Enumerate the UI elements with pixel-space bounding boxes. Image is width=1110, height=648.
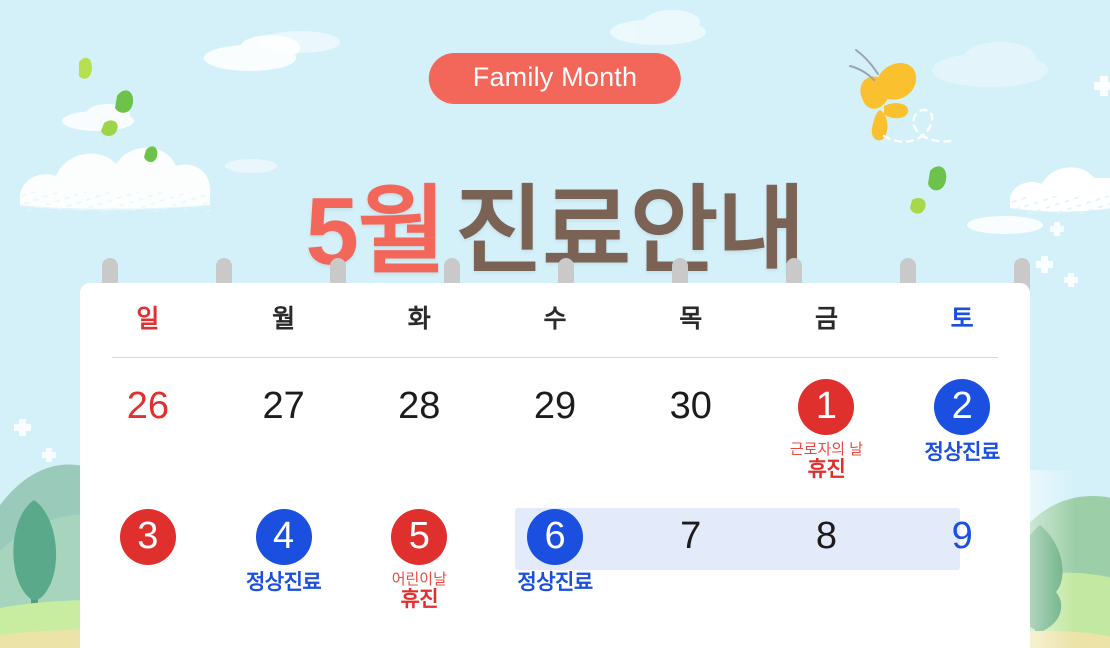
day-number: 8 bbox=[798, 509, 854, 565]
calendar-week-row: 34정상진료5어린이날휴진6정상진료789 bbox=[80, 509, 1030, 612]
day-status-badge: 정상진료 bbox=[216, 571, 352, 595]
weekday-label-6: 토 bbox=[894, 307, 1030, 332]
day-number: 2 bbox=[934, 379, 990, 435]
calendar-day-cell[interactable]: 1근로자의 날휴진 bbox=[759, 379, 895, 482]
calendar-day-cell[interactable]: 7 bbox=[623, 509, 759, 612]
cloud-icon bbox=[260, 31, 340, 53]
day-status-badge: 휴진 bbox=[351, 588, 487, 612]
day-status-badge: 휴진 bbox=[759, 458, 895, 482]
day-number: 3 bbox=[120, 509, 176, 565]
day-number: 5 bbox=[391, 509, 447, 565]
calendar-day-cell[interactable]: 6정상진료 bbox=[487, 509, 623, 612]
calendar-day-cell[interactable]: 9 bbox=[894, 509, 1030, 612]
day-number: 27 bbox=[256, 379, 312, 435]
cloud-icon bbox=[932, 42, 1048, 87]
weekday-label-4: 목 bbox=[623, 307, 759, 332]
day-number: 29 bbox=[527, 379, 583, 435]
holiday-name: 어린이날 bbox=[351, 571, 487, 588]
day-number: 4 bbox=[256, 509, 312, 565]
butterfly-icon bbox=[850, 50, 956, 142]
day-note: 정상진료 bbox=[487, 571, 623, 595]
calendar-week-row: 26272829301근로자의 날휴진2정상진료 bbox=[80, 379, 1030, 482]
family-month-badge: Family Month bbox=[429, 53, 681, 104]
calendar-day-cell[interactable]: 2정상진료 bbox=[894, 379, 1030, 482]
weekday-label-1: 월 bbox=[216, 307, 352, 332]
day-note: 정상진료 bbox=[216, 571, 352, 595]
calendar-day-cell[interactable]: 4정상진료 bbox=[216, 509, 352, 612]
weekday-label-2: 화 bbox=[351, 307, 487, 332]
day-number: 6 bbox=[527, 509, 583, 565]
day-number: 1 bbox=[798, 379, 854, 435]
calendar-day-cell[interactable]: 26 bbox=[80, 379, 216, 482]
calendar-day-cell[interactable]: 29 bbox=[487, 379, 623, 482]
day-status-badge: 정상진료 bbox=[487, 571, 623, 595]
day-number: 30 bbox=[663, 379, 719, 435]
weekday-label-3: 수 bbox=[487, 307, 623, 332]
header-divider bbox=[112, 357, 998, 358]
cloud-icon bbox=[610, 10, 706, 45]
day-note: 어린이날휴진 bbox=[351, 571, 487, 612]
calendar-day-cell[interactable]: 3 bbox=[80, 509, 216, 612]
calendar-day-cell[interactable]: 5어린이날휴진 bbox=[351, 509, 487, 612]
cloud-icon bbox=[225, 159, 277, 173]
calendar-card: 일월화수목금토 26272829301근로자의 날휴진2정상진료 34정상진료5… bbox=[80, 283, 1030, 648]
calendar-day-cell[interactable]: 8 bbox=[759, 509, 895, 612]
weekday-label-0: 일 bbox=[80, 307, 216, 332]
day-note: 근로자의 날휴진 bbox=[759, 441, 895, 482]
day-number: 9 bbox=[934, 509, 990, 565]
holiday-name: 근로자의 날 bbox=[759, 441, 895, 458]
calendar-day-cell[interactable]: 28 bbox=[351, 379, 487, 482]
calendar-day-cell[interactable]: 30 bbox=[623, 379, 759, 482]
day-status-badge: 정상진료 bbox=[894, 441, 1030, 465]
cloud-icon bbox=[204, 35, 300, 71]
day-number: 28 bbox=[391, 379, 447, 435]
cloud-icon bbox=[62, 104, 134, 131]
poster-canvas: Family Month 5월진료안내 일월화수목금토 26272829301근… bbox=[0, 0, 1110, 648]
weekday-header-row: 일월화수목금토 bbox=[80, 307, 1030, 332]
day-number: 7 bbox=[663, 509, 719, 565]
calendar-day-cell[interactable]: 27 bbox=[216, 379, 352, 482]
weekday-label-5: 금 bbox=[759, 307, 895, 332]
day-note: 정상진료 bbox=[894, 441, 1030, 465]
day-number: 26 bbox=[120, 379, 176, 435]
